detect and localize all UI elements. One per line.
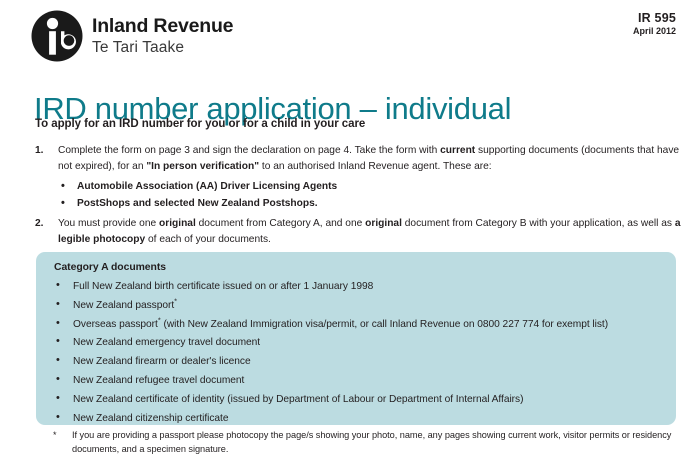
list-item: Overseas passport* (with New Zealand Imm… [54, 320, 676, 330]
document-label: New Zealand firearm or dealer's licence [73, 356, 251, 367]
list-item: New Zealand citizenship certificate [54, 414, 676, 424]
list-item: Automobile Association (AA) Driver Licen… [58, 179, 682, 196]
list-item: Full New Zealand birth certificate issue… [54, 282, 676, 292]
inland-revenue-ir-roundel-icon [31, 10, 83, 62]
step-text: You must provide one original document f… [58, 216, 682, 247]
step-number: 2. [34, 216, 58, 247]
footnote-marker: * [174, 296, 177, 305]
document-label: New Zealand emergency travel document [73, 337, 260, 348]
document-label: Overseas passport [73, 319, 158, 330]
category-a-document-list: Full New Zealand birth certificate issue… [54, 282, 676, 424]
step-body: You must provide one original document f… [58, 216, 682, 247]
list-item: New Zealand passport* [54, 301, 676, 311]
inland-revenue-logo: Inland Revenue Te Tari Taake [31, 10, 233, 62]
form-date: April 2012 [633, 26, 676, 36]
org-name-maori: Te Tari Taake [92, 40, 233, 56]
list-item: New Zealand certificate of identity (iss… [54, 395, 676, 405]
footnote-text: If you are providing a passport please p… [72, 428, 682, 457]
document-label: New Zealand citizenship certificate [73, 413, 228, 424]
document-label: Full New Zealand birth certificate issue… [73, 281, 373, 292]
instruction-step: 1.Complete the form on page 3 and sign t… [34, 143, 682, 212]
list-item: New Zealand firearm or dealer's licence [54, 357, 676, 367]
category-a-panel: Category A documents Full New Zealand bi… [36, 252, 676, 425]
step-sub-bullet-list: Automobile Association (AA) Driver Licen… [58, 179, 682, 212]
document-label: New Zealand refugee travel document [73, 375, 244, 386]
list-item: New Zealand emergency travel document [54, 338, 676, 348]
step-text: Complete the form on page 3 and sign the… [58, 143, 682, 174]
step-body: Complete the form on page 3 and sign the… [58, 143, 682, 212]
passport-footnote: * If you are providing a passport please… [53, 428, 682, 457]
footnote-marker: * [53, 428, 72, 457]
logo-wordmark: Inland Revenue Te Tari Taake [92, 17, 233, 55]
category-a-heading: Category A documents [54, 262, 676, 273]
document-label: New Zealand passport [73, 300, 174, 311]
instruction-steps: 1.Complete the form on page 3 and sign t… [34, 143, 682, 251]
instruction-step: 2.You must provide one original document… [34, 216, 682, 247]
form-reference: IR 595 April 2012 [633, 11, 676, 37]
org-name: Inland Revenue [92, 17, 233, 37]
page-subtitle: To apply for an IRD number for you or fo… [35, 118, 365, 130]
list-item: New Zealand refugee travel document [54, 376, 676, 386]
step-number: 1. [34, 143, 58, 212]
document-label-continued: (with New Zealand Immigration visa/permi… [161, 319, 608, 330]
document-label: New Zealand certificate of identity (iss… [73, 394, 523, 405]
form-code: IR 595 [633, 11, 676, 25]
list-item: PostShops and selected New Zealand Posts… [58, 196, 682, 213]
document-header: Inland Revenue Te Tari Taake IR 595 Apri… [0, 0, 691, 68]
